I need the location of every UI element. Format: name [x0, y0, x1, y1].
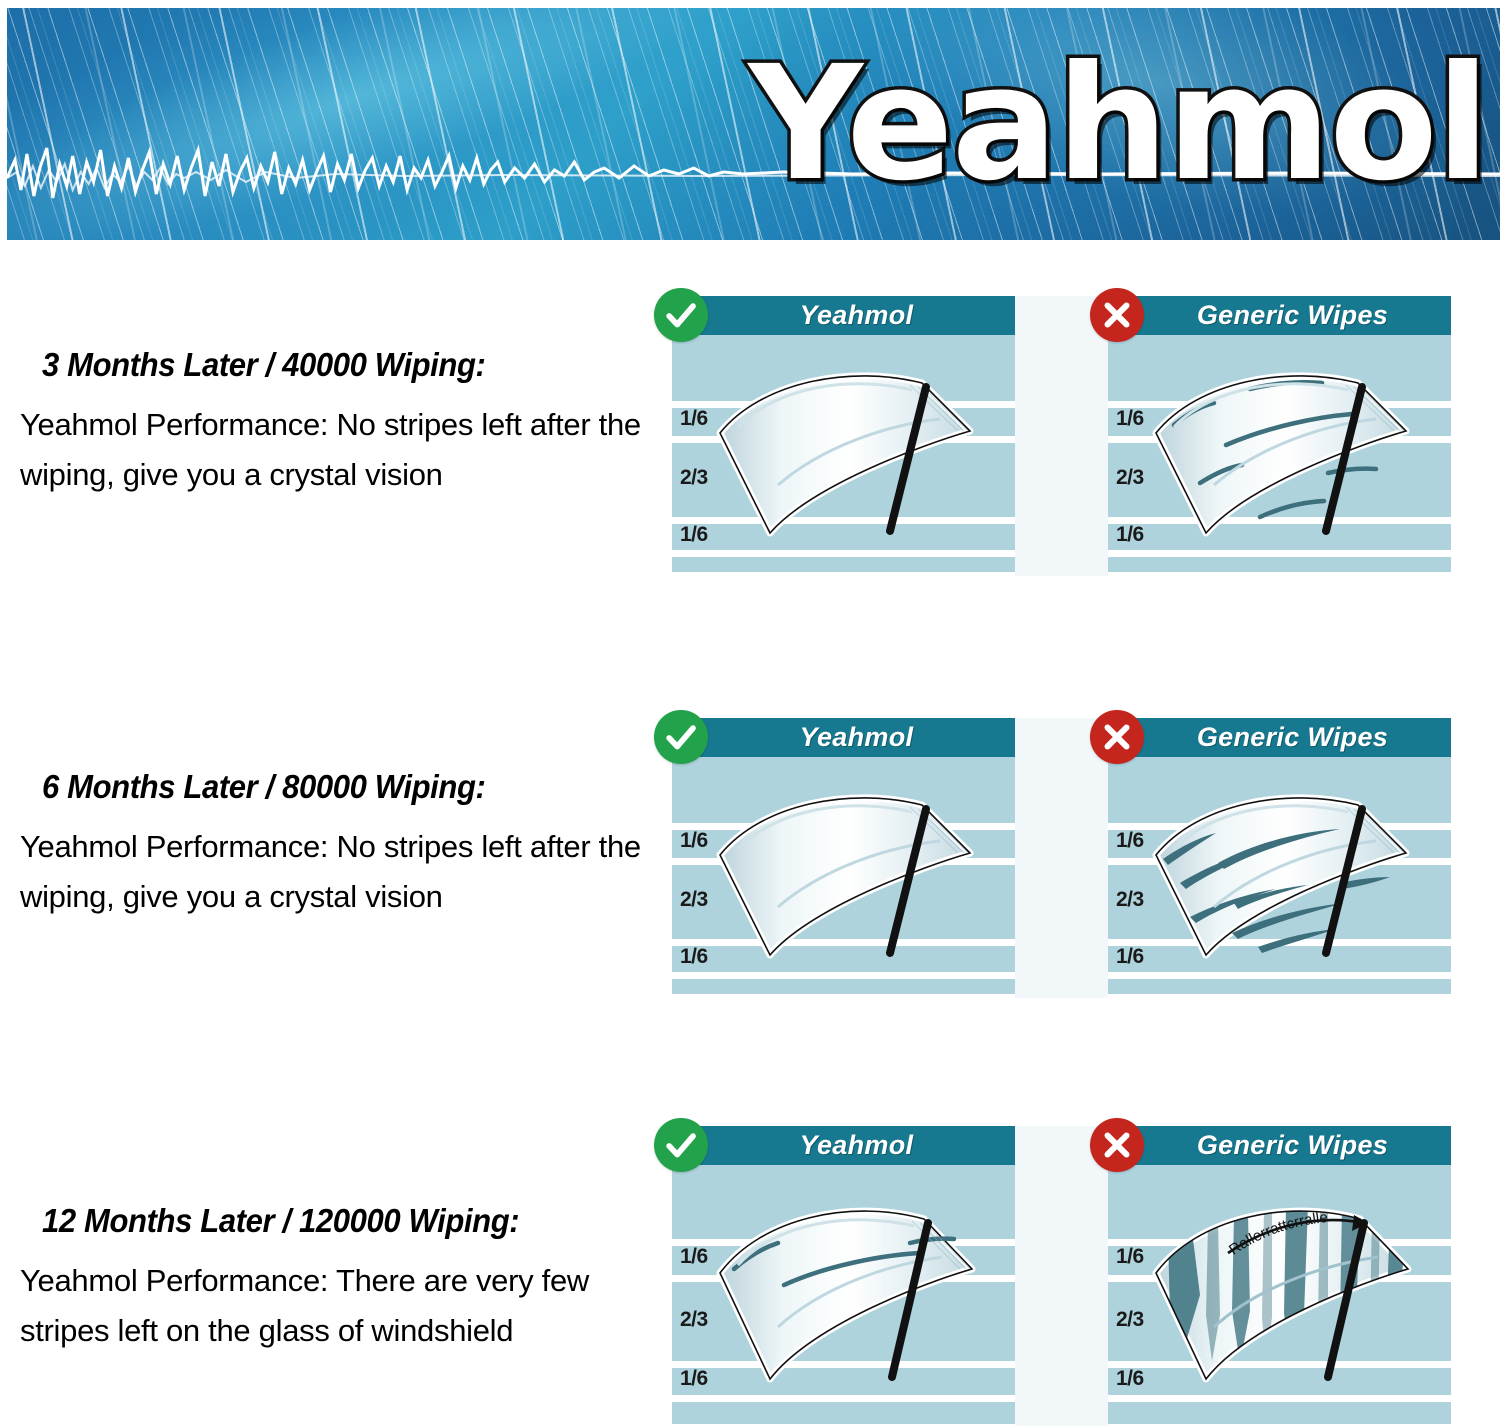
- windshield-sweep-diagram: [1108, 757, 1451, 994]
- panel-yeahmol: Yeahmol 1/6 2/3 1/6: [672, 718, 1015, 994]
- row-description: Yeahmol Performance: No stripes left aft…: [20, 822, 660, 922]
- brand-banner: Yeahmol: [7, 8, 1500, 240]
- panel-title: Generic Wipes: [1171, 300, 1388, 331]
- row-text-block: 3 Months Later / 40000 Wiping: Yeahmol P…: [20, 346, 660, 500]
- panel-yeahmol: Yeahmol 1/6 2/3 1/6: [672, 296, 1015, 572]
- check-circle-icon: [654, 288, 708, 342]
- panel-generic-wipes: Generic Wipes 1/6 2/3 1/6: [1108, 1126, 1451, 1424]
- comparison-row-6-months: 6 Months Later / 80000 Wiping: Yeahmol P…: [0, 690, 1500, 1020]
- brand-title: Yeahmol: [7, 8, 1500, 240]
- panel-title: Generic Wipes: [1171, 1130, 1388, 1161]
- panel-generic-wipes: Generic Wipes 1/6 2/3 1/6: [1108, 296, 1451, 572]
- panel-body: 1/6 2/3 1/6: [672, 1165, 1015, 1424]
- panel-body: 1/6 2/3 1/6: [1108, 757, 1451, 994]
- panel-header: Yeahmol: [672, 296, 1015, 335]
- panel-header: Yeahmol: [672, 1126, 1015, 1165]
- row-title: 6 Months Later / 80000 Wiping:: [42, 768, 623, 806]
- panel-gap: [1015, 1126, 1108, 1426]
- x-circle-icon: [1090, 710, 1144, 764]
- windshield-sweep-diagram: [1108, 335, 1451, 572]
- panel-body: 1/6 2/3 1/6: [672, 335, 1015, 572]
- panel-title: Yeahmol: [774, 300, 914, 331]
- x-circle-icon: [1090, 1118, 1144, 1172]
- panel-header: Generic Wipes: [1108, 1126, 1451, 1165]
- row-text-block: 12 Months Later / 120000 Wiping: Yeahmol…: [20, 1202, 660, 1356]
- windshield-sweep-diagram: [672, 1165, 1015, 1424]
- windshield-sweep-diagram: Rallerrattcrralle: [1108, 1165, 1451, 1424]
- windshield-sweep-diagram: [672, 335, 1015, 572]
- panel-header: Generic Wipes: [1108, 296, 1451, 335]
- windshield-sweep-diagram: [672, 757, 1015, 994]
- row-description: Yeahmol Performance: No stripes left aft…: [20, 400, 660, 500]
- panel-title: Yeahmol: [774, 1130, 914, 1161]
- row-text-block: 6 Months Later / 80000 Wiping: Yeahmol P…: [20, 768, 660, 922]
- comparison-row-12-months: 12 Months Later / 120000 Wiping: Yeahmol…: [0, 1098, 1500, 1412]
- panel-body: 1/6 2/3 1/6: [1108, 1165, 1451, 1424]
- panel-title: Yeahmol: [774, 722, 914, 753]
- panel-body: 1/6 2/3 1/6: [1108, 335, 1451, 572]
- check-circle-icon: [654, 1118, 708, 1172]
- brand-name: Yeahmol: [748, 49, 1488, 199]
- row-description: Yeahmol Performance: There are very few …: [20, 1256, 660, 1356]
- panel-header: Yeahmol: [672, 718, 1015, 757]
- x-circle-icon: [1090, 288, 1144, 342]
- row-title: 12 Months Later / 120000 Wiping:: [42, 1202, 623, 1240]
- row-title: 3 Months Later / 40000 Wiping:: [42, 346, 623, 384]
- panel-header: Generic Wipes: [1108, 718, 1451, 757]
- panel-generic-wipes: Generic Wipes 1/6 2/3 1/6: [1108, 718, 1451, 994]
- panel-yeahmol: Yeahmol 1/6 2/3 1/6: [672, 1126, 1015, 1424]
- panel-gap: [1015, 718, 1108, 998]
- panel-gap: [1015, 296, 1108, 576]
- comparison-row-3-months: 3 Months Later / 40000 Wiping: Yeahmol P…: [0, 268, 1500, 598]
- panel-title: Generic Wipes: [1171, 722, 1388, 753]
- panel-body: 1/6 2/3 1/6: [672, 757, 1015, 994]
- check-circle-icon: [654, 710, 708, 764]
